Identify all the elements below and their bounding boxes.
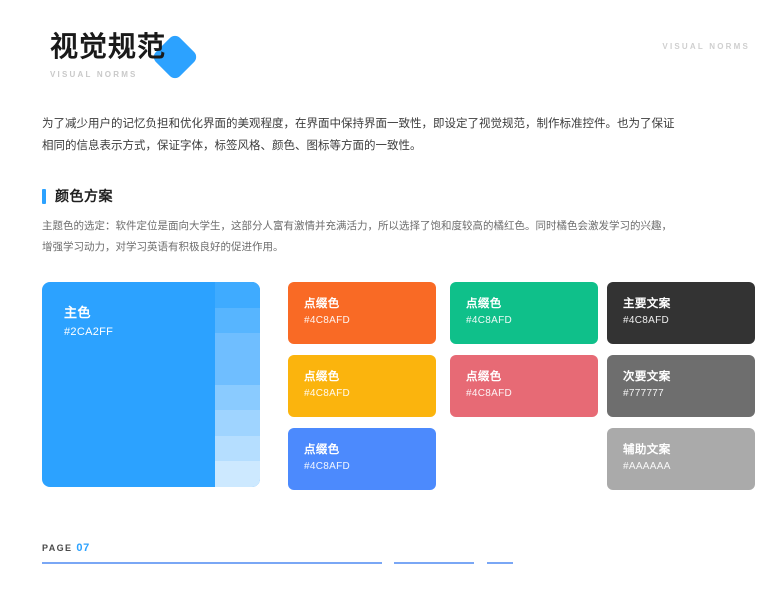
footer-rule-segment-3 [487,562,513,564]
primary-tint-2 [215,308,260,334]
primary-color-label: 主色 [64,302,91,321]
page-number: 07 [76,542,89,554]
swatch-green[interactable]: 点缀色#4C8AFD [450,282,598,344]
swatch-blue[interactable]: 点缀色#4C8AFD [288,428,436,490]
swatch-green-label: 点缀色 [466,295,502,311]
swatch-orange-hex: #4C8AFD [304,315,350,326]
primary-tint-6 [215,410,260,436]
section-accent-bar-icon [42,189,46,204]
section-title: 颜色方案 [55,186,113,206]
primary-tint-5 [215,385,260,411]
primary-tint-strip [215,282,260,487]
swatch-orange-label: 点缀色 [304,295,340,311]
swatch-auxiliary-text-label: 辅助文案 [623,441,671,457]
intro-paragraph: 为了减少用户的记忆负担和优化界面的美观程度，在界面中保持界面一致性，即设定了视觉… [42,113,682,157]
footer-rule-segment-2 [394,562,474,564]
page-footer: PAGE 07 [42,542,742,572]
primary-tint-8 [215,461,260,487]
swatch-green-hex: #4C8AFD [466,315,512,326]
footer-rule [42,562,742,564]
swatch-coral-label: 点缀色 [466,368,502,384]
primary-tint-4 [215,359,260,385]
swatch-primary-text-hex: #4C8AFD [623,315,669,326]
swatch-secondary-text-label: 次要文案 [623,368,671,384]
primary-color-hex: #2CA2FF [64,326,113,338]
swatch-primary-text[interactable]: 主要文案#4C8AFD [607,282,755,344]
swatch-blue-hex: #4C8AFD [304,461,350,472]
swatch-orange[interactable]: 点缀色#4C8AFD [288,282,436,344]
swatch-secondary-text[interactable]: 次要文案#777777 [607,355,755,417]
section-heading: 颜色方案 [42,186,113,206]
page-label: PAGE [42,543,72,553]
primary-tint-7 [215,436,260,462]
swatch-primary-text-label: 主要文案 [623,295,671,311]
header-right-label: VISUAL NORMS [662,42,750,51]
color-palette-grid: 主色 #2CA2FF 点缀色#4C8AFD点缀色#4C8AFD主要文案#4C8A… [42,282,742,492]
title-block: 视觉规范 VISUAL NORMS [50,28,166,79]
page-number-block: PAGE 07 [42,542,742,554]
swatch-auxiliary-text-hex: #AAAAAA [623,461,671,472]
section-description: 主题色的选定：软件定位是面向大学生，这部分人富有激情并充满活力，所以选择了饱和度… [42,216,682,258]
primary-tint-1 [215,282,260,308]
swatch-secondary-text-hex: #777777 [623,388,664,399]
swatch-coral-hex: #4C8AFD [466,388,512,399]
swatch-yellow[interactable]: 点缀色#4C8AFD [288,355,436,417]
swatch-auxiliary-text[interactable]: 辅助文案#AAAAAA [607,428,755,490]
page-title: 视觉规范 [50,28,166,66]
footer-rule-segment-1 [42,562,382,564]
swatch-yellow-label: 点缀色 [304,368,340,384]
swatch-blue-label: 点缀色 [304,441,340,457]
primary-tint-3 [215,333,260,359]
swatch-yellow-hex: #4C8AFD [304,388,350,399]
swatch-coral[interactable]: 点缀色#4C8AFD [450,355,598,417]
page-subtitle: VISUAL NORMS [50,70,166,79]
primary-color-card[interactable]: 主色 #2CA2FF [42,282,260,487]
page-header: 视觉规范 VISUAL NORMS VISUAL NORMS [50,28,750,88]
